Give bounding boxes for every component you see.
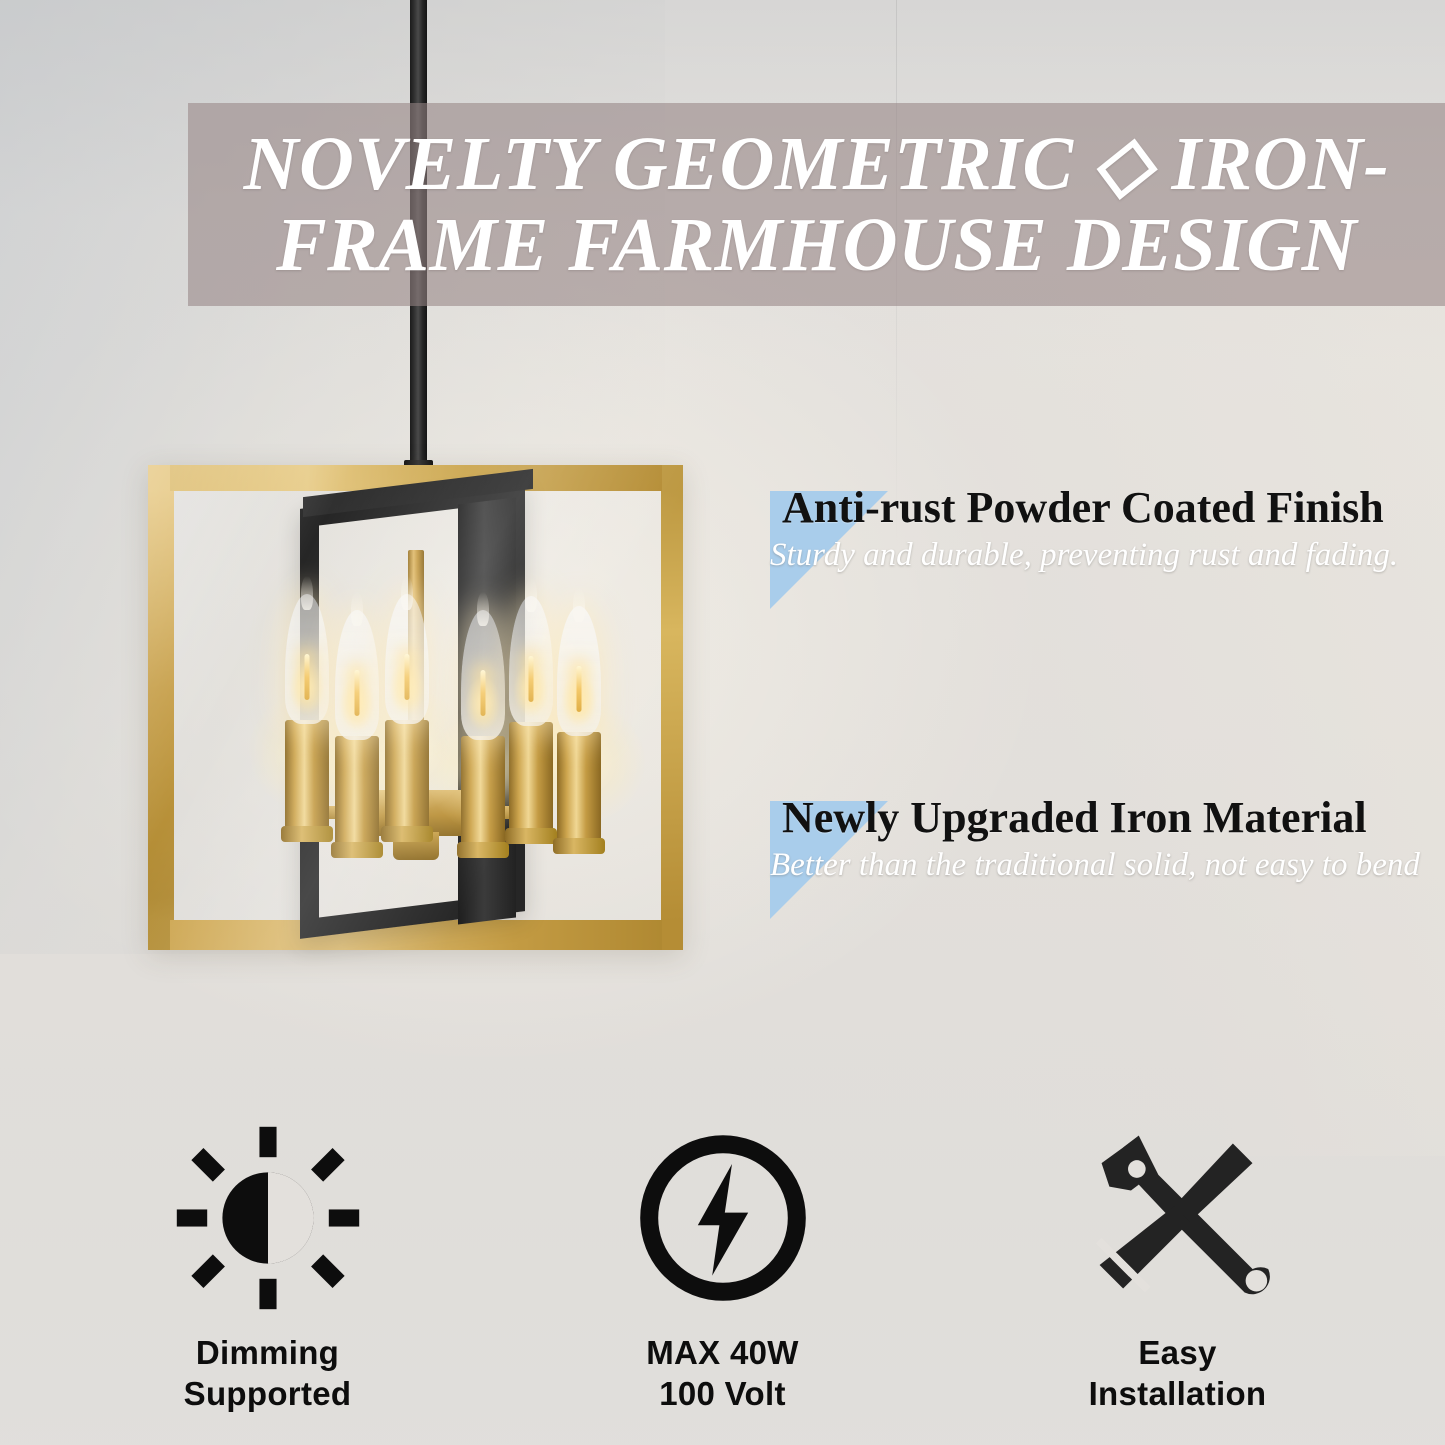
bulb-filament — [529, 656, 534, 702]
spec-caption: Easy Installation — [1013, 1332, 1343, 1415]
candle-sleeve — [509, 722, 553, 842]
candelabra-bulb — [335, 610, 379, 740]
feature-block-anti-rust: Anti-rust Powder Coated Finish Sturdy an… — [760, 485, 1445, 573]
spec-caption-line-2: 100 Volt — [558, 1373, 888, 1415]
candle-sleeve — [557, 732, 601, 852]
tools-installation-icon — [1013, 1118, 1343, 1318]
candelabra-bulb — [461, 610, 505, 740]
candle-light — [285, 670, 329, 840]
headline-banner: NOVELTY GEOMETRIC ◇ IRON- FRAME FARMHOUS… — [188, 103, 1445, 306]
candle-cluster — [235, 550, 615, 910]
spec-caption-line-1: MAX 40W — [558, 1332, 888, 1374]
spec-caption-line-1: Easy — [1013, 1332, 1343, 1374]
candle-sleeve — [335, 736, 379, 856]
bulb-filament — [577, 666, 582, 712]
spec-caption: MAX 40W 100 Volt — [558, 1332, 888, 1415]
chandelier-product — [140, 455, 700, 980]
candle-light — [557, 678, 601, 852]
bulb-filament — [355, 670, 360, 716]
brightness-dimming-icon — [103, 1118, 433, 1318]
candle-light — [335, 688, 379, 856]
bulb-filament — [405, 654, 410, 700]
candle-sleeve — [385, 720, 429, 840]
power-bolt-icon — [558, 1118, 888, 1318]
feature-title: Anti-rust Powder Coated Finish — [782, 485, 1445, 531]
spec-item-dimming: Dimming Supported — [103, 1118, 433, 1415]
spec-icon-row: Dimming Supported MAX 40W 100 Volt — [0, 1118, 1445, 1415]
spec-caption-line-1: Dimming — [103, 1332, 433, 1374]
product-feature-image: NOVELTY GEOMETRIC ◇ IRON- FRAME FARMHOUS… — [0, 0, 1445, 1445]
feature-subtitle: Better than the traditional solid, not e… — [770, 847, 1445, 883]
headline-line-2: FRAME FARMHOUSE DESIGN — [276, 203, 1357, 287]
headline-line-1: NOVELTY GEOMETRIC ◇ IRON- — [244, 122, 1390, 206]
candle-sleeve — [285, 720, 329, 840]
spec-item-installation: Easy Installation — [1013, 1118, 1343, 1415]
feature-title: Newly Upgraded Iron Material — [782, 795, 1445, 841]
page-title: NOVELTY GEOMETRIC ◇ IRON- FRAME FARMHOUS… — [226, 124, 1408, 285]
spec-item-wattage: MAX 40W 100 Volt — [558, 1118, 888, 1415]
candle-light — [385, 662, 429, 840]
bulb-filament — [481, 670, 486, 716]
candelabra-bulb — [509, 596, 553, 726]
feature-subtitle: Sturdy and durable, preventing rust and … — [770, 537, 1445, 573]
candle-light — [461, 690, 505, 856]
candle-light — [509, 670, 553, 842]
candelabra-bulb — [557, 606, 601, 736]
candle-sleeve — [461, 736, 505, 856]
candelabra-bulb — [285, 594, 329, 724]
spec-caption: Dimming Supported — [103, 1332, 433, 1415]
spec-caption-line-2: Supported — [103, 1373, 433, 1415]
spec-caption-line-2: Installation — [1013, 1373, 1343, 1415]
feature-block-iron-material: Newly Upgraded Iron Material Better than… — [760, 795, 1445, 883]
bulb-filament — [305, 654, 310, 700]
